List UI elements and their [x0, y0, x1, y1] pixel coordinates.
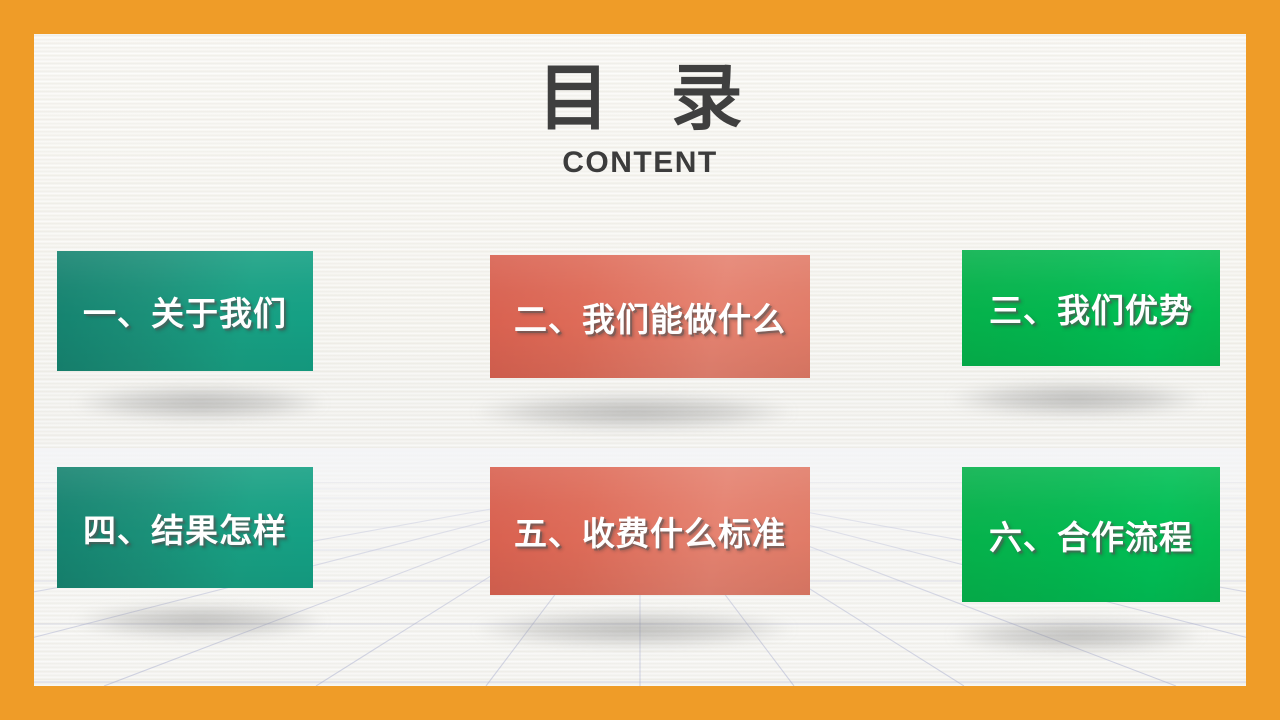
content-card-5-label: 五、收费什么标准: [514, 507, 786, 555]
content-card-1-label: 一、关于我们: [83, 287, 287, 335]
slide: 目 录 CONTENT 一、关于我们 二、我们能做什么 三、我们优势 四、结果怎…: [0, 0, 1280, 720]
page-title: 目 录 CONTENT: [34, 60, 1246, 180]
content-card-6[interactable]: 六、合作流程: [962, 467, 1220, 602]
slide-canvas: 目 录 CONTENT 一、关于我们 二、我们能做什么 三、我们优势 四、结果怎…: [34, 34, 1246, 686]
content-card-1[interactable]: 一、关于我们: [57, 251, 313, 371]
card-shadow-2: [474, 394, 794, 430]
title-english: CONTENT: [34, 146, 1246, 180]
content-card-2-label: 二、我们能做什么: [514, 293, 786, 341]
content-card-2[interactable]: 二、我们能做什么: [490, 255, 810, 378]
content-card-5[interactable]: 五、收费什么标准: [490, 467, 810, 595]
content-card-6-label: 六、合作流程: [989, 511, 1193, 559]
card-shadow-1: [74, 386, 326, 420]
content-card-3-label: 三、我们优势: [989, 284, 1193, 332]
title-chinese: 目 录: [34, 60, 1246, 138]
content-card-3[interactable]: 三、我们优势: [962, 250, 1220, 366]
content-card-4-label: 四、结果怎样: [83, 504, 287, 552]
content-card-4[interactable]: 四、结果怎样: [57, 467, 313, 588]
card-shadow-3: [949, 382, 1203, 416]
